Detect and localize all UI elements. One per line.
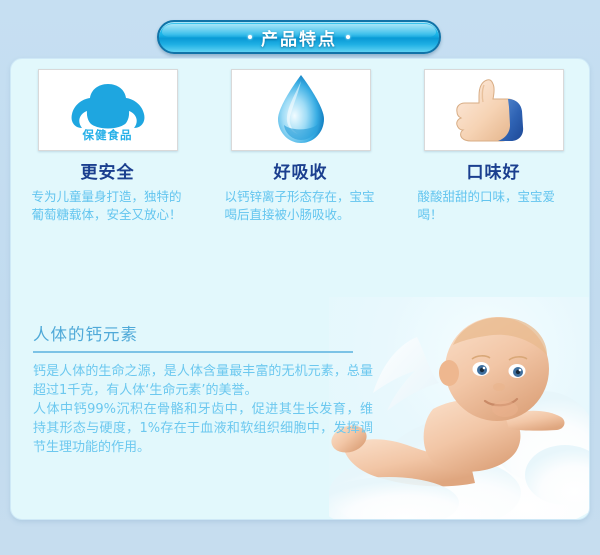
content-panel: 保健食品 更安全 专为儿童量身打造，独特的葡萄糖载体，安全又放心！ [10, 58, 590, 520]
water-drop-icon [272, 73, 330, 147]
feature-list: 保健食品 更安全 专为儿童量身打造，独特的葡萄糖载体，安全又放心！ [11, 69, 590, 224]
feature-description-absorption: 以钙锌离子形态存在，宝宝喝后直接被小肠吸收。 [225, 188, 377, 224]
feature-description-taste: 酸酸甜甜的口味，宝宝爱喝！ [418, 188, 570, 224]
dot-icon-right [346, 35, 350, 39]
section-title-banner: 产品特点 [157, 20, 441, 54]
feature-thumbnail-absorption [231, 69, 371, 151]
calcium-paragraph-2: 人体中钙99%沉积在骨骼和牙齿中，促进其生长发育，维持其形态与硬度，1%存在于血… [33, 400, 373, 457]
thumbs-up-icon [446, 75, 542, 145]
page-title: 产品特点 [261, 25, 337, 50]
feature-description-safety: 专为儿童量身打造，独特的葡萄糖载体，安全又放心！ [32, 188, 184, 224]
feature-title-absorption: 好吸收 [274, 158, 328, 183]
feature-item-taste: 口味好 酸酸甜甜的口味，宝宝爱喝！ [397, 69, 590, 224]
calcium-section-title: 人体的钙元素 [33, 321, 373, 351]
calcium-title-divider [33, 351, 353, 353]
feature-item-safety: 保健食品 更安全 专为儿童量身打造，独特的葡萄糖载体，安全又放心！ [11, 69, 204, 224]
feature-title-taste: 口味好 [467, 158, 521, 183]
feature-item-absorption: 好吸收 以钙锌离子形态存在，宝宝喝后直接被小肠吸收。 [204, 69, 397, 224]
section-title-inner: 产品特点 [248, 25, 350, 50]
calcium-section: 人体的钙元素 钙是人体的生命之源，是人体含量最丰富的无机元素，总量超过1千克，有… [33, 321, 373, 457]
dot-icon-left [248, 35, 252, 39]
health-food-badge-caption: 保健食品 [39, 127, 177, 143]
calcium-paragraph-1: 钙是人体的生命之源，是人体含量最丰富的无机元素，总量超过1千克，有人体‘生命元素… [33, 362, 373, 400]
product-feature-page: 产品特点 保健食品 更安全 专为儿童量身打造，独特的葡萄糖载体，安全又放心！ [0, 0, 600, 555]
feature-thumbnail-safety: 保健食品 [38, 69, 178, 151]
feature-thumbnail-taste [424, 69, 564, 151]
feature-title-safety: 更安全 [81, 158, 135, 183]
